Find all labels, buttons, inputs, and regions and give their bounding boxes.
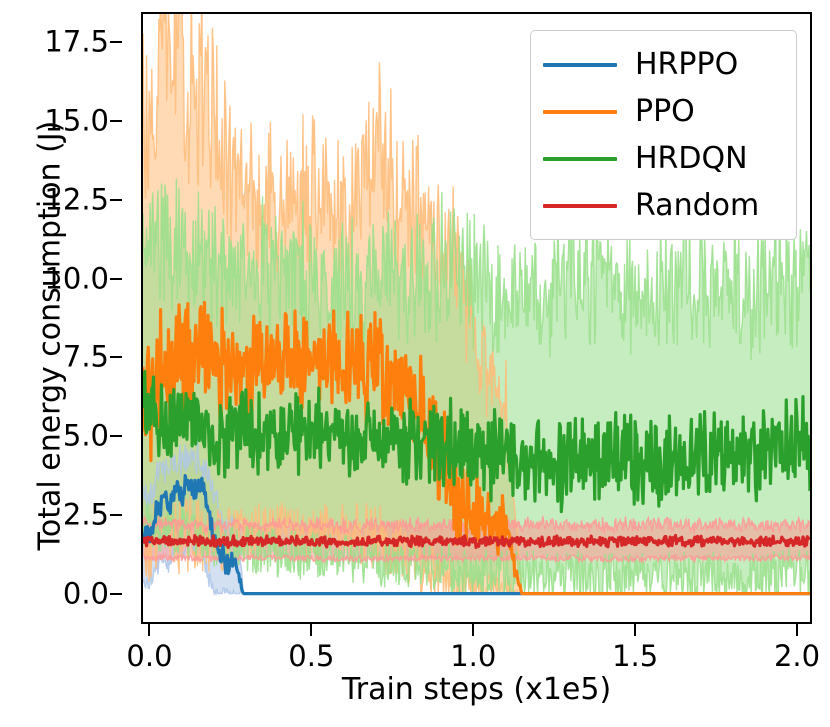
legend-label: Random <box>635 191 759 221</box>
legend-color-swatch <box>543 110 617 114</box>
y-axis-ticks: 0.02.55.07.510.012.515.017.5 <box>0 0 141 640</box>
y-tick-label: 0.0 <box>63 579 109 608</box>
x-tick-label: 1.5 <box>612 642 658 671</box>
legend-entry[interactable]: HRPPO <box>543 41 784 88</box>
figure: 0.02.55.07.510.012.515.017.5 Total energ… <box>0 0 830 727</box>
y-tick-mark <box>110 41 122 43</box>
y-tick-mark <box>110 278 122 280</box>
legend-label: PPO <box>635 97 695 127</box>
x-axis-label: Train steps (x1e5) <box>141 672 812 707</box>
legend-label: HRDQN <box>635 144 748 174</box>
x-tick-label: 0.0 <box>126 642 172 671</box>
y-tick-mark <box>110 435 122 437</box>
legend-entry[interactable]: HRDQN <box>543 135 784 182</box>
legend-color-swatch <box>543 204 617 208</box>
legend-color-swatch <box>543 157 617 161</box>
y-tick-mark <box>110 356 122 358</box>
y-tick-label: 2.5 <box>63 500 109 529</box>
y-tick-label: 5.0 <box>63 422 109 451</box>
legend-entry[interactable]: Random <box>543 182 784 229</box>
legend-entry[interactable]: PPO <box>543 88 784 135</box>
y-tick-mark <box>110 593 122 595</box>
legend: HRPPOPPOHRDQNRandom <box>530 30 797 240</box>
x-tick-mark <box>634 624 636 636</box>
y-axis-label: Total energy consumption (J) <box>33 26 68 646</box>
x-tick-label: 2.0 <box>774 642 820 671</box>
legend-color-swatch <box>543 63 617 67</box>
y-tick-label: 7.5 <box>63 343 109 372</box>
x-tick-label: 0.5 <box>288 642 334 671</box>
x-tick-mark <box>796 624 798 636</box>
x-tick-label: 1.0 <box>450 642 496 671</box>
x-tick-mark <box>472 624 474 636</box>
y-tick-mark <box>110 120 122 122</box>
y-tick-mark <box>110 199 122 201</box>
x-tick-mark <box>148 624 150 636</box>
legend-label: HRPPO <box>635 50 738 80</box>
x-tick-mark <box>310 624 312 636</box>
y-tick-mark <box>110 514 122 516</box>
